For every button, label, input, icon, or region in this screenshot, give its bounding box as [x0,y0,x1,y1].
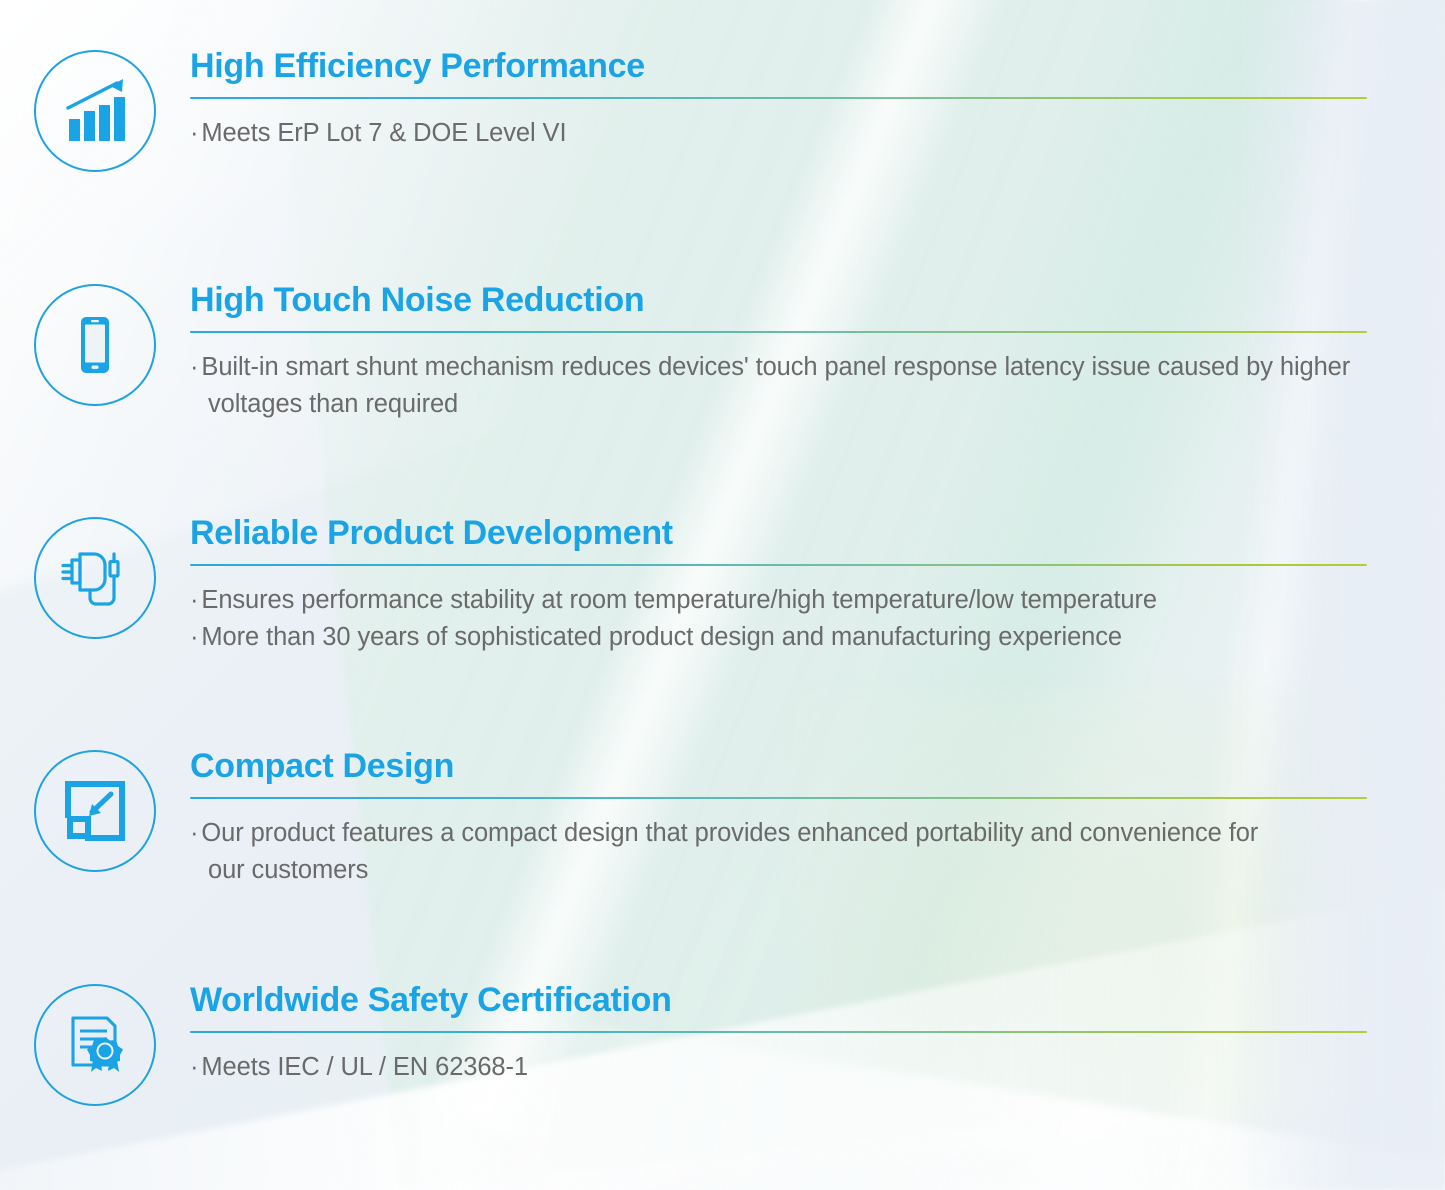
feature-bullet-text: Meets IEC / UL / EN 62368-1 [201,1053,528,1081]
feature-bullet-text: Ensures performance stability at room te… [201,586,1157,614]
feature-icon-container [0,515,190,639]
bar-chart-growth-icon [34,50,156,172]
feature-divider [190,97,1367,100]
feature-divider [190,797,1367,800]
feature-divider [190,331,1367,334]
feature-divider [190,564,1367,567]
feature-bullet-text: Our product features a compact design th… [201,819,1258,884]
feature-icon-container [0,982,190,1106]
feature-item-high-efficiency-performance: High Efficiency Performance ·Meets ErP L… [0,48,1445,172]
bullet-marker: · [190,353,198,381]
bullet-marker: · [190,119,198,147]
bullet-marker: · [190,623,198,651]
bullet-marker: · [190,586,198,614]
feature-bullet: ·Ensures performance stability at room t… [190,582,1367,619]
feature-bullet: ·Our product features a compact design t… [190,815,1298,888]
feature-text-block: High Efficiency Performance ·Meets ErP L… [190,48,1445,152]
feature-bullet: ·Meets IEC / UL / EN 62368-1 [190,1049,1367,1086]
feature-item-reliable-product-development: Reliable Product Development ·Ensures pe… [0,515,1445,656]
feature-bullet-text: Built-in smart shunt mechanism reduces d… [201,353,1350,418]
power-adapter-icon [34,517,156,639]
certificate-award-icon [34,984,156,1106]
feature-title: Reliable Product Development [190,515,1367,552]
feature-highlights-page: High Efficiency Performance ·Meets ErP L… [0,0,1445,1190]
feature-icon-container [0,48,190,172]
bullet-marker: · [190,819,198,847]
feature-bullet: ·Built-in smart shunt mechanism reduces … [190,349,1367,422]
bullet-marker: · [190,1053,198,1081]
feature-bullet-text: Meets ErP Lot 7 & DOE Level VI [201,119,566,147]
feature-item-high-touch-noise-reduction: High Touch Noise Reduction ·Built-in sma… [0,282,1445,423]
feature-bullet: ·More than 30 years of sophisticated pro… [190,619,1367,656]
feature-bullet: ·Meets ErP Lot 7 & DOE Level VI [190,115,1367,152]
feature-title: High Touch Noise Reduction [190,282,1367,319]
feature-title: Compact Design [190,748,1367,785]
feature-text-block: Worldwide Safety Certification ·Meets IE… [190,982,1445,1086]
feature-bullet-text: More than 30 years of sophisticated prod… [201,623,1122,651]
feature-text-block: Compact Design ·Our product features a c… [190,748,1445,889]
feature-icon-container [0,748,190,872]
feature-item-worldwide-safety-certification: Worldwide Safety Certification ·Meets IE… [0,982,1445,1106]
feature-text-block: Reliable Product Development ·Ensures pe… [190,515,1445,656]
feature-divider [190,1031,1367,1034]
feature-item-compact-design: Compact Design ·Our product features a c… [0,748,1445,889]
feature-title: Worldwide Safety Certification [190,982,1367,1019]
feature-icon-container [0,282,190,406]
compact-resize-icon [34,750,156,872]
smartphone-icon [34,284,156,406]
feature-title: High Efficiency Performance [190,48,1367,85]
feature-text-block: High Touch Noise Reduction ·Built-in sma… [190,282,1445,423]
